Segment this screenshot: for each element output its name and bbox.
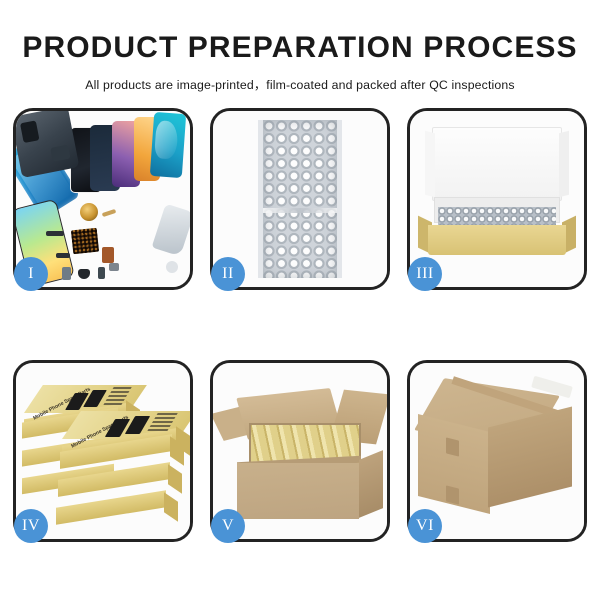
step-badge-1: I (14, 257, 48, 291)
step-badge-6: VI (408, 509, 442, 543)
step-panel-sealed-carton: VI (407, 360, 587, 542)
part-flex-ribbon-icon (102, 247, 114, 263)
carton-tab-lower (446, 485, 459, 504)
carton-front-face (237, 463, 359, 519)
repair-tool-icon (152, 203, 190, 256)
step-badge-3: III (408, 257, 442, 291)
part-flex-cable-icon (102, 209, 117, 217)
page-subtitle: All products are image-printed，film-coat… (0, 75, 600, 93)
part-bracket-icon (56, 253, 70, 258)
stacked-box (56, 497, 166, 537)
part-connector-icon (46, 231, 64, 236)
part-button-icon (109, 263, 119, 271)
step-panel-phone-screens-and-parts: I (13, 108, 193, 290)
carton-side-face (359, 450, 383, 518)
step-panel-stacked-yellow-boxes: Mobile Phone Spare Parts (13, 360, 193, 542)
box-side-face (168, 464, 182, 493)
carton-tab-upper (446, 437, 459, 456)
header: PRODUCT PREPARATION PROCESS All products… (0, 0, 600, 93)
part-screw-icon (166, 261, 178, 273)
part-sim-tray-icon (62, 267, 71, 280)
part-speaker-icon (78, 269, 90, 279)
product-preparation-process-infographic: PRODUCT PREPARATION PROCESS All products… (0, 0, 600, 600)
step-badge-2: II (211, 257, 245, 291)
step-panel-open-yellow-box-with-bubble-wrap: III (407, 108, 587, 290)
pouch-seam (263, 208, 337, 213)
process-step-grid: I II III (13, 108, 587, 542)
phone-cyan-display-icon (150, 112, 186, 178)
page-title: PRODUCT PREPARATION PROCESS (0, 33, 600, 63)
box-side-face (164, 492, 178, 521)
chip-array-icon (71, 228, 99, 255)
step-badge-5: V (211, 509, 245, 543)
bubble-wrap-pouch-icon (258, 120, 342, 278)
phone-rear-housing-icon (16, 111, 79, 178)
box-stack-illustration: Mobile Phone Spare Parts (22, 375, 184, 527)
box-lid-icon (432, 127, 562, 201)
step-badge-4: IV (14, 509, 48, 543)
copper-coil-icon (80, 203, 98, 221)
box-front-panel (428, 225, 566, 255)
step-panel-bubble-wrap-pouch: II (210, 108, 390, 290)
step-panel-open-carton-with-boxes: V (210, 360, 390, 542)
part-camera-module-icon (98, 267, 105, 279)
